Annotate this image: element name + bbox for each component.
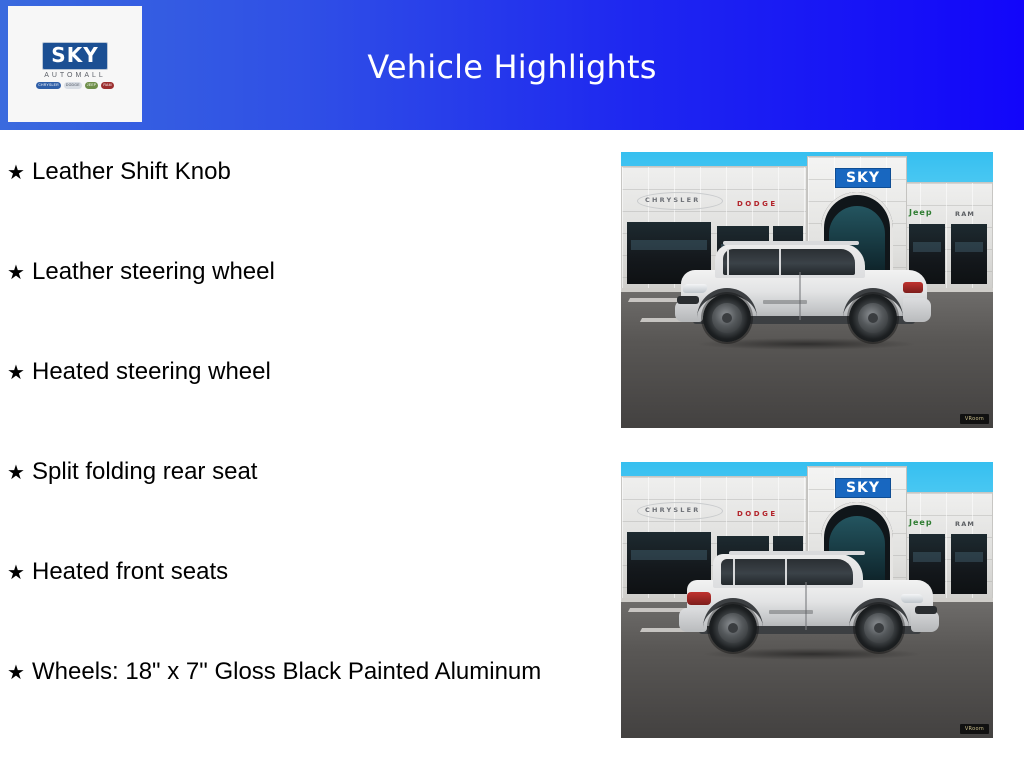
sign-dodge: DODGE: [737, 200, 778, 208]
dealership-scene: CHRYSLER DODGE SKY Jeep RAM: [621, 152, 993, 428]
star-icon: ★: [0, 552, 32, 592]
headlight: [900, 594, 924, 603]
dealer-logo: SKY AUTOMALL CHRYSLER DODGE JEEP RAM: [8, 6, 142, 122]
showroom-glass: [951, 224, 987, 284]
photo-watermark: VRoom: [960, 724, 989, 734]
roof-rail: [729, 551, 865, 555]
sign-jeep: Jeep: [909, 208, 933, 217]
list-item: ★ Leather steering wheel: [0, 252, 600, 352]
door-seam: [799, 272, 801, 320]
rear-wheel: [855, 604, 903, 652]
rear-bumper: [903, 298, 931, 322]
vehicle-jeep-compass: [677, 548, 939, 666]
jeep-brand-icon: JEEP: [85, 82, 99, 89]
feature-list: ★ Leather Shift Knob ★ Leather steering …: [0, 152, 600, 752]
door-seam: [805, 582, 807, 630]
sign-ram: RAM: [955, 520, 975, 528]
headlight: [682, 284, 708, 293]
sky-logo-badge: SKY: [43, 43, 106, 69]
star-icon: ★: [0, 352, 32, 392]
compass-badge: [769, 610, 813, 614]
ram-brand-icon: RAM: [101, 82, 113, 89]
sign-dodge: DODGE: [737, 510, 778, 518]
rear-wheel: [849, 294, 897, 342]
star-icon: ★: [0, 152, 32, 192]
vehicle-highlights-slide: Vehicle Highlights SKY AUTOMALL CHRYSLER…: [0, 0, 1024, 768]
dealer-logo-brand: SKY: [51, 45, 98, 66]
glass-reflection: [955, 242, 983, 252]
feature-label: Split folding rear seat: [32, 452, 257, 489]
window-pillar: [733, 559, 735, 585]
vehicle-photo-rear-quarter: CHRYSLER DODGE SKY Jeep RAM: [621, 462, 993, 738]
window-pillar: [785, 559, 787, 585]
showroom-glass: [951, 534, 987, 594]
star-icon: ★: [0, 452, 32, 492]
sign-jeep: Jeep: [909, 518, 933, 527]
photo-watermark: VRoom: [960, 414, 989, 424]
page-title: Vehicle Highlights: [0, 49, 1024, 85]
wheel-cap: [722, 313, 732, 323]
sign-sky: SKY: [835, 168, 891, 188]
wheel-cap: [874, 623, 884, 633]
list-item: ★ Split folding rear seat: [0, 452, 600, 552]
star-icon: ★: [0, 252, 32, 292]
front-wheel: [709, 604, 757, 652]
dealer-brand-strip: CHRYSLER DODGE JEEP RAM: [8, 82, 142, 89]
window-pillar: [727, 249, 729, 275]
feature-label: Heated steering wheel: [32, 352, 271, 389]
list-item: ★ Leather Shift Knob: [0, 152, 600, 252]
vehicle-windows: [723, 249, 855, 275]
list-item: ★ Wheels: 18" x 7" Gloss Black Painted A…: [0, 652, 600, 752]
vehicle-photo-profile: CHRYSLER DODGE SKY Jeep RAM: [621, 152, 993, 428]
taillight: [903, 282, 923, 293]
feature-label: Heated front seats: [32, 552, 228, 589]
feature-label: Leather steering wheel: [32, 252, 275, 289]
list-item: ★ Heated steering wheel: [0, 352, 600, 452]
glass-reflection: [955, 552, 983, 562]
slide-header: Vehicle Highlights: [0, 0, 1024, 130]
star-icon: ★: [0, 652, 32, 692]
list-item: ★ Heated front seats: [0, 552, 600, 652]
roof-rail: [723, 241, 859, 245]
dealership-scene: CHRYSLER DODGE SKY Jeep RAM: [621, 462, 993, 738]
sign-sky: SKY: [835, 478, 891, 498]
vehicle-windows: [721, 559, 853, 585]
window-pillar: [779, 249, 781, 275]
feature-label: Leather Shift Knob: [32, 152, 231, 189]
vehicle-jeep-compass: [671, 238, 937, 356]
chrysler-brand-icon: CHRYSLER: [36, 82, 61, 89]
compass-badge: [763, 300, 807, 304]
sign-ram: RAM: [955, 210, 975, 218]
front-wheel: [703, 294, 751, 342]
dodge-brand-icon: DODGE: [64, 82, 82, 89]
sign-chrysler: CHRYSLER: [645, 506, 700, 514]
dealer-logo-tagline: AUTOMALL: [8, 72, 142, 79]
taillight: [687, 592, 711, 605]
grille: [915, 606, 937, 614]
wheel-cap: [728, 623, 738, 633]
dealer-logo-inner: SKY AUTOMALL CHRYSLER DODGE JEEP RAM: [8, 43, 142, 89]
sign-chrysler: CHRYSLER: [645, 196, 700, 204]
grille: [677, 296, 699, 304]
feature-label: Wheels: 18" x 7" Gloss Black Painted Alu…: [32, 652, 541, 689]
wheel-cap: [868, 313, 878, 323]
